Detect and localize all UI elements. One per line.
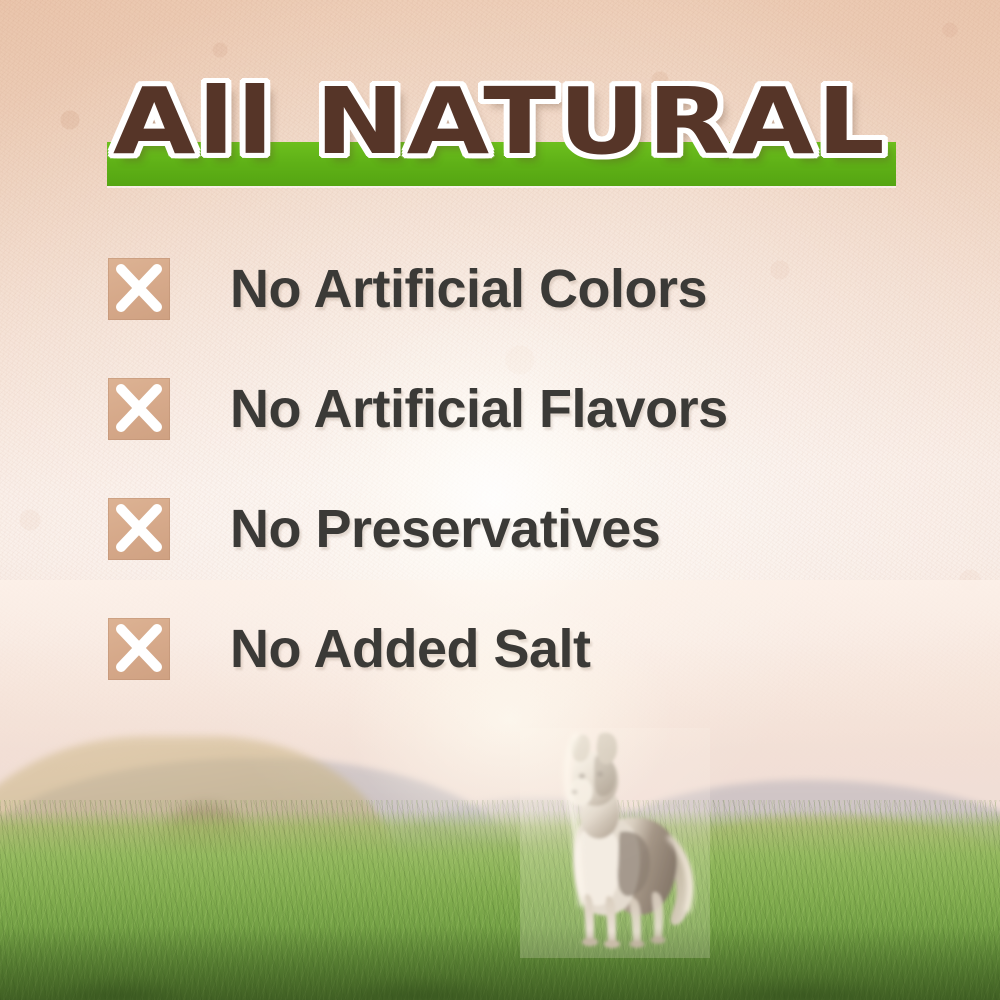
- list-item: No Artificial Colors: [108, 258, 928, 320]
- list-item: No Added Salt: [108, 618, 928, 680]
- title-banner: All NATURAL: [0, 62, 1000, 202]
- infographic-canvas: All NATURAL No Artificial Colors No Arti…: [0, 0, 1000, 1000]
- grass-shadow: [0, 926, 1000, 1000]
- claim-text: No Artificial Flavors: [230, 378, 728, 440]
- claim-text: No Preservatives: [230, 498, 660, 560]
- x-mark-icon: [108, 258, 170, 320]
- claim-text: No Artificial Colors: [230, 258, 707, 320]
- x-mark-icon: [108, 618, 170, 680]
- claims-list: No Artificial Colors No Artificial Flavo…: [108, 258, 928, 738]
- border-collie-dog: [520, 728, 710, 958]
- page-title: All NATURAL: [0, 62, 1000, 182]
- x-mark-icon: [108, 498, 170, 560]
- claim-text: No Added Salt: [230, 618, 591, 680]
- x-mark-icon: [108, 378, 170, 440]
- list-item: No Preservatives: [108, 498, 928, 560]
- list-item: No Artificial Flavors: [108, 378, 928, 440]
